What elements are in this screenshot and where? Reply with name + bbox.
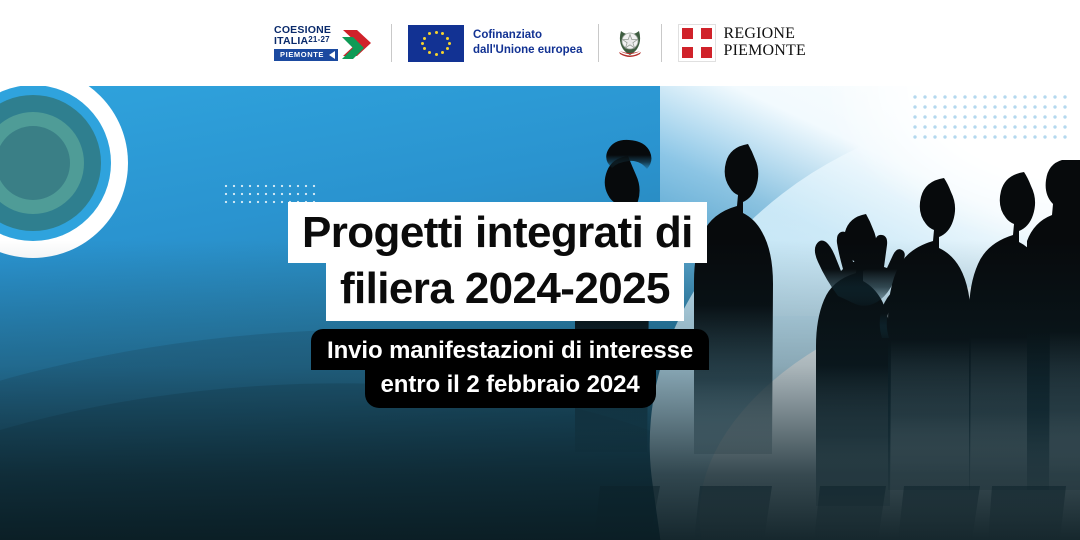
hero-subtitle: Invio manifestazioni di interesse entro … [311, 329, 709, 408]
institutional-logo-bar: COESIONE ITALIA21-27 PIEMONTE [0, 0, 1080, 86]
hero-subtitle-line-1: Invio manifestazioni di interesse [311, 329, 709, 370]
logo-regione-piemonte: REGIONE PIEMONTE [662, 24, 821, 62]
campaign-banner: COESIONE ITALIA21-27 PIEMONTE [0, 0, 1080, 540]
coesione-arrow-icon [341, 25, 375, 61]
regione-piemonte-wordmark: REGIONE PIEMONTE [723, 26, 805, 60]
hero-title-line-1: Progetti integrati di [288, 202, 707, 263]
regione-line1: REGIONE [723, 25, 795, 42]
italian-republic-emblem-icon [615, 25, 645, 61]
coesione-years: 21-27 [308, 35, 329, 44]
hero-subtitle-line-2: entro il 2 febbraio 2024 [365, 368, 656, 408]
coesione-line2: ITALIA [274, 35, 308, 47]
eu-funding-text: Cofinanziato dall'Unione europea [473, 28, 582, 59]
eu-flag-icon [408, 25, 464, 62]
coesione-wordmark: COESIONE ITALIA21-27 [274, 25, 331, 47]
hero-artwork: Progetti integrati di filiera 2024-2025 … [0, 86, 1080, 540]
eu-text-line1: Cofinanziato [473, 29, 542, 41]
hero-title-line-2: filiera 2024-2025 [326, 261, 684, 321]
hero-title: Progetti integrati di filiera 2024-2025 [288, 202, 707, 321]
logo-coesione-italia: COESIONE ITALIA21-27 PIEMONTE [258, 25, 391, 62]
eu-text-line2: dall'Unione europea [473, 44, 582, 56]
piemonte-cross-icon [678, 24, 716, 62]
regione-line2: PIEMONTE [723, 42, 805, 59]
coesione-region-label: PIEMONTE [274, 49, 338, 62]
logo-cofinanziato-ue: Cofinanziato dall'Unione europea [392, 25, 598, 62]
logo-repubblica-italiana [599, 25, 661, 61]
